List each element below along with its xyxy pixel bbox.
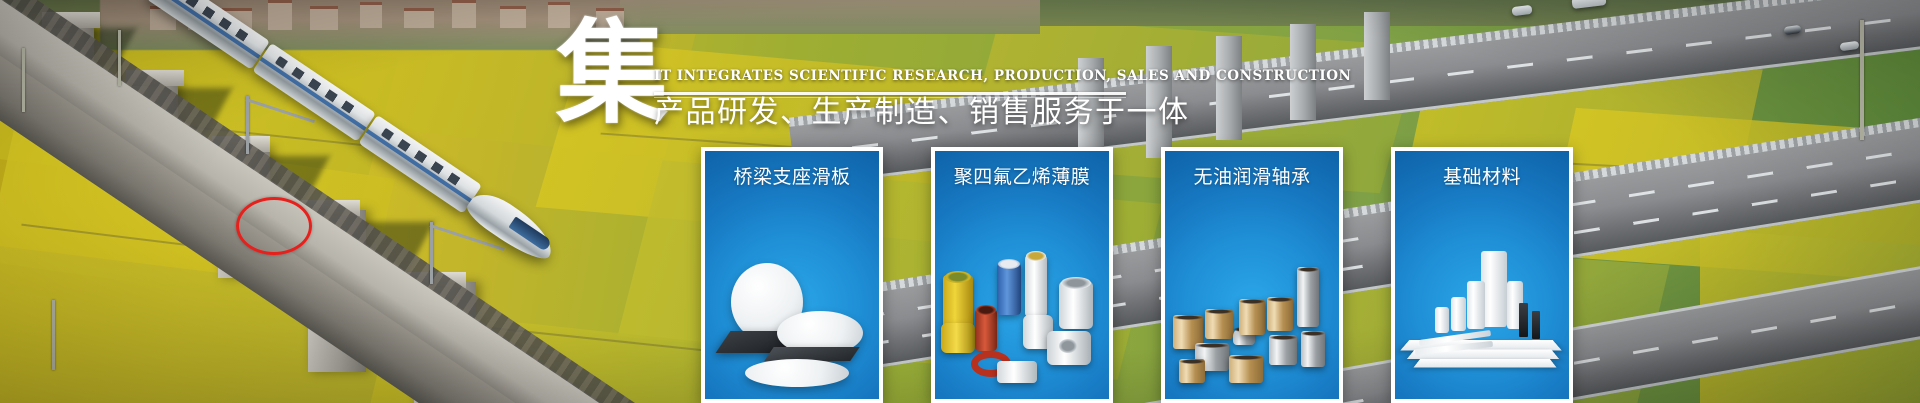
card-surface: 聚四氟乙烯薄膜	[935, 151, 1109, 399]
bronze-bushing	[1239, 299, 1265, 335]
roll-core	[1059, 339, 1077, 353]
card-surface: 基础材料	[1395, 151, 1569, 399]
ptfe-film-rolls-icon	[935, 219, 1109, 399]
product-card-oil-free-bearing[interactable]: 无油润滑轴承	[1161, 147, 1343, 403]
ptfe-disc	[745, 359, 849, 387]
product-card-bridge-bearing-slide-plate[interactable]: 桥梁支座滑板	[701, 147, 883, 403]
card-surface: 桥梁支座滑板	[705, 151, 879, 399]
base-materials-icon	[1395, 219, 1569, 399]
card-title: 基础材料	[1395, 162, 1569, 189]
roll-core	[945, 271, 971, 283]
oil-free-bearings-icon	[1165, 219, 1339, 399]
tape-roll-white	[1025, 255, 1047, 317]
card-title: 桥梁支座滑板	[705, 162, 879, 189]
tape-roll-blue	[997, 263, 1021, 315]
tape-roll-white	[997, 361, 1037, 383]
graphite-block	[1532, 311, 1540, 339]
steel-bushing	[1269, 335, 1297, 365]
bronze-bushing	[1267, 297, 1293, 331]
card-surface: 无油润滑轴承	[1165, 151, 1339, 399]
steel-sleeve	[1297, 267, 1319, 327]
hero-banner: 集 IT INTEGRATES SCIENTIFIC RESEARCH, PRO…	[0, 0, 1920, 403]
ptfe-cylinder	[1467, 281, 1485, 329]
product-card-base-materials[interactable]: 基础材料	[1391, 147, 1573, 403]
product-card-ptfe-film[interactable]: 聚四氟乙烯薄膜	[931, 147, 1113, 403]
tape-roll-yellow	[941, 323, 975, 353]
ptfe-sheet	[1414, 359, 1557, 367]
roll-core	[1061, 277, 1091, 289]
bronze-bushing	[1205, 309, 1233, 339]
card-title: 无油润滑轴承	[1165, 162, 1339, 189]
tape-roll-yellow	[943, 275, 973, 329]
ptfe-cylinder	[1435, 307, 1449, 333]
bronze-bushing	[1179, 359, 1205, 383]
roll-core	[998, 259, 1020, 269]
product-card-row: 桥梁支座滑板 聚四氟乙烯薄膜	[0, 0, 1920, 403]
graphite-block	[1519, 303, 1528, 337]
roll-core	[1026, 251, 1046, 261]
steel-sleeve	[1301, 331, 1325, 367]
tape-roll-red	[975, 309, 997, 351]
bronze-bushing	[1229, 355, 1263, 383]
bridge-bearing-slide-plate-icon	[705, 219, 879, 399]
card-title: 聚四氟乙烯薄膜	[935, 162, 1109, 189]
ptfe-cylinder	[1451, 297, 1466, 331]
roll-core	[976, 305, 996, 315]
